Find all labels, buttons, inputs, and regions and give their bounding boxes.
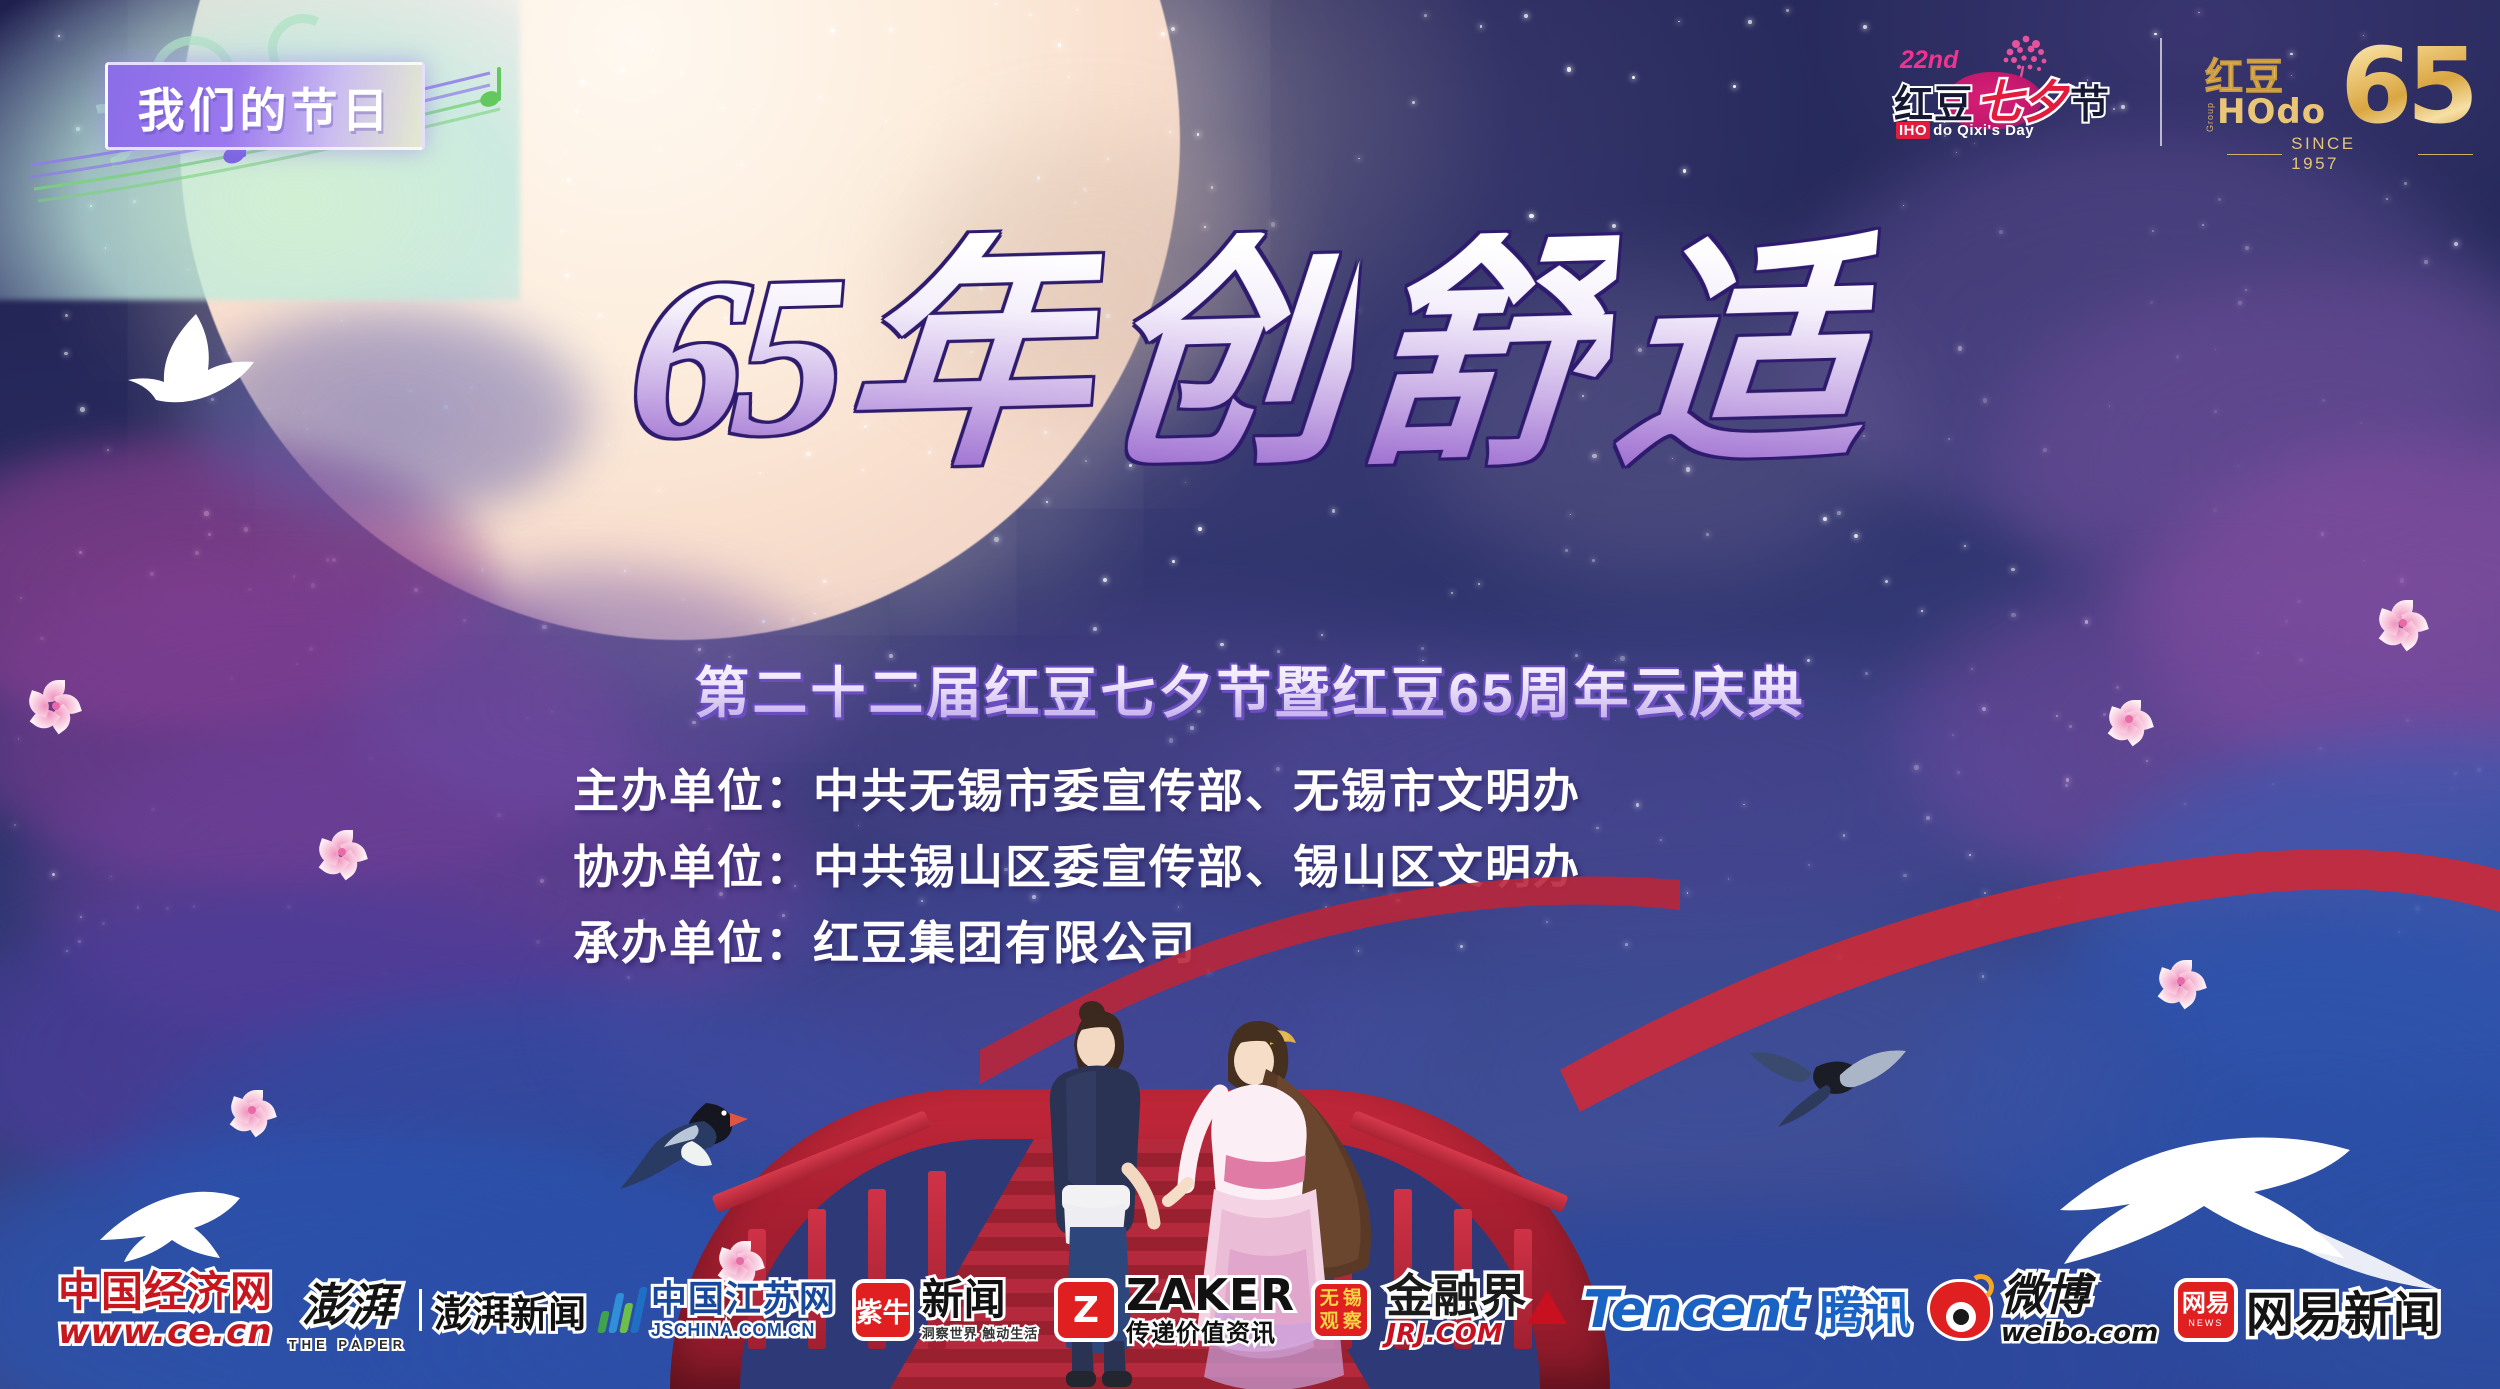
sponsor-wuxi-observation[interactable]: 无 锡 观 察 xyxy=(1311,1280,1371,1340)
wx-char-2: 锡 xyxy=(1343,1289,1362,1308)
since-line: SINCE 1957 xyxy=(2227,134,2473,174)
sponsor-js-name-cn: 中国江苏网 xyxy=(651,1280,836,1318)
netease-mark-cn: 网易 xyxy=(2182,1292,2230,1316)
qixi-name-part1: 红豆 xyxy=(1894,86,1974,125)
wx-char-4: 察 xyxy=(1343,1312,1362,1331)
sponsor-weibo[interactable]: 微博 weibo.com xyxy=(1927,1274,2158,1346)
sponsor-js-url: JSCHINA.COM.CN xyxy=(651,1321,836,1340)
since-text: SINCE 1957 xyxy=(2291,134,2409,174)
since-rule-left xyxy=(2227,154,2282,155)
sponsor-jschina[interactable]: 中国江苏网 JSCHINA.COM.CN xyxy=(602,1280,836,1340)
magpie-bird-flying-icon xyxy=(1740,1019,1940,1139)
title-char-1: 年 xyxy=(834,230,1104,486)
qixi-title: 红豆 七夕 节 xyxy=(1894,80,2110,126)
sponsor-paper-name-cn: 澎湃 xyxy=(302,1269,394,1335)
qixi-edition-label: 22nd xyxy=(1900,46,1958,75)
zaker-mark-icon: Z xyxy=(1054,1278,1118,1342)
hodo-wordmark: Group HOdo xyxy=(2205,92,2326,132)
title-char-2: 创 xyxy=(1092,230,1362,486)
sponsor-the-paper[interactable]: 澎湃 THE PAPER 澎湃新闻 xyxy=(289,1269,586,1352)
sponsor-paper-full-cn: 澎湃新闻 xyxy=(434,1283,586,1338)
qixi-subtitle: IHO do Qixi's Day xyxy=(1896,122,2034,139)
cherry-blossom-icon xyxy=(2160,960,2202,1002)
sponsor-ziniu-news[interactable]: 紫牛 新闻 洞察世界 触动生活 xyxy=(852,1279,1039,1341)
weibo-eye-icon xyxy=(1927,1279,1993,1341)
sponsor-jrj-url: JRJ.COM xyxy=(1386,1321,1527,1347)
wx-char-1: 无 xyxy=(1320,1289,1339,1308)
qixi-name-part2: 节 xyxy=(2070,86,2110,125)
main-title-calligraphy: 65 年 创 舒 适 xyxy=(540,168,1960,548)
ziniu-mark-icon: 紫牛 xyxy=(852,1279,914,1341)
cherry-blossom-icon xyxy=(30,680,82,732)
sponsor-tencent[interactable]: Tencent 腾讯 xyxy=(1583,1277,1911,1343)
sponsor-tencent-name-en: Tencent xyxy=(1583,1280,1805,1340)
wuxi-observation-mark-icon: 无 锡 观 察 xyxy=(1311,1280,1371,1340)
sponsor-zn-tagline: 洞察世界 触动生活 xyxy=(922,1327,1039,1340)
qixi-subtitle-text: do Qixi's Day xyxy=(1933,122,2034,139)
white-dove-icon xyxy=(100,300,280,430)
sponsor-zaker[interactable]: Z ZAKER 传递价值资讯 xyxy=(1054,1274,1295,1346)
sponsor-paper-divider xyxy=(419,1289,422,1331)
cherry-blossom-icon xyxy=(2110,700,2148,738)
organizer-line-host: 主办单位：中共无锡市委宣传部、无锡市文明办 xyxy=(573,755,1581,821)
wx-char-3: 观 xyxy=(1320,1312,1339,1331)
logo-divider xyxy=(2160,38,2162,146)
sponsor-ce-url: www.ce.cn xyxy=(58,1315,272,1349)
banner-label: 我们的节日 xyxy=(138,72,393,141)
sponsor-zaker-name-cn: 传递价值资讯 xyxy=(1126,1322,1295,1346)
hodo-letters: HOdo xyxy=(2217,92,2326,132)
qixi-badge: IHO xyxy=(1896,122,1930,139)
sponsor-paper-name-en: THE PAPER xyxy=(289,1337,407,1352)
sponsor-ce-name-cn: 中国经济网 xyxy=(58,1271,273,1313)
sponsor-weibo-name-cn: 微博 xyxy=(2001,1274,2158,1318)
since-rule-right xyxy=(2418,154,2473,155)
sponsor-netease-name-cn: 网易新闻 xyxy=(2246,1275,2442,1345)
title-char-0: 65 xyxy=(623,241,845,474)
netease-mark-en: NEWS xyxy=(2188,1319,2223,1328)
festival-banner[interactable]: 我们的节日 xyxy=(105,62,425,150)
magpie-bird-icon xyxy=(620,1083,770,1193)
anniversary-number: 65 xyxy=(2340,34,2473,138)
sponsor-zn-name-cn: 新闻 xyxy=(922,1280,1039,1322)
sponsor-weibo-url: weibo.com xyxy=(2001,1320,2158,1346)
cherry-blossom-icon xyxy=(232,1090,272,1130)
sponsor-logo-bar: 中国经济网 www.ce.cn 澎湃 THE PAPER 澎湃新闻 中国江苏网 … xyxy=(0,1255,2500,1365)
sponsor-tencent-name-cn: 腾讯 xyxy=(1819,1277,1911,1343)
jschina-bars-icon xyxy=(597,1287,648,1333)
sponsor-jrj-name-cn: 金融界 xyxy=(1386,1273,1527,1319)
sponsor-netease-news[interactable]: 网易 NEWS 网易新闻 xyxy=(2174,1275,2442,1345)
qixi-name-red: 七夕 xyxy=(1976,80,2068,126)
cherry-blossom-icon xyxy=(320,830,364,874)
qixi-festival-logo[interactable]: 22nd 红豆 七夕 节 IHO do Qixi's Day xyxy=(1890,28,2130,138)
sponsor-china-economic-net[interactable]: 中国经济网 www.ce.cn xyxy=(58,1271,273,1349)
poster-root: 我们的节日 22nd 红豆 七夕 节 IHO do Qixi's Day xyxy=(0,0,2500,1389)
cherry-blossom-icon xyxy=(2380,600,2426,646)
hodo-anniversary-logo[interactable]: 红豆 Group HOdo 65 SINCE 1957 xyxy=(2205,38,2473,168)
jrj-arrow-icon xyxy=(1527,1290,1567,1324)
title-char-4: 适 xyxy=(1608,230,1878,486)
hodo-group-label: Group xyxy=(2205,102,2215,132)
netease-mark-icon: 网易 NEWS xyxy=(2174,1278,2238,1342)
sponsor-jrj[interactable]: 金融界 JRJ.COM xyxy=(1386,1273,1567,1347)
title-char-3: 舒 xyxy=(1350,230,1620,486)
sponsor-zaker-name-en: ZAKER xyxy=(1126,1274,1295,1318)
